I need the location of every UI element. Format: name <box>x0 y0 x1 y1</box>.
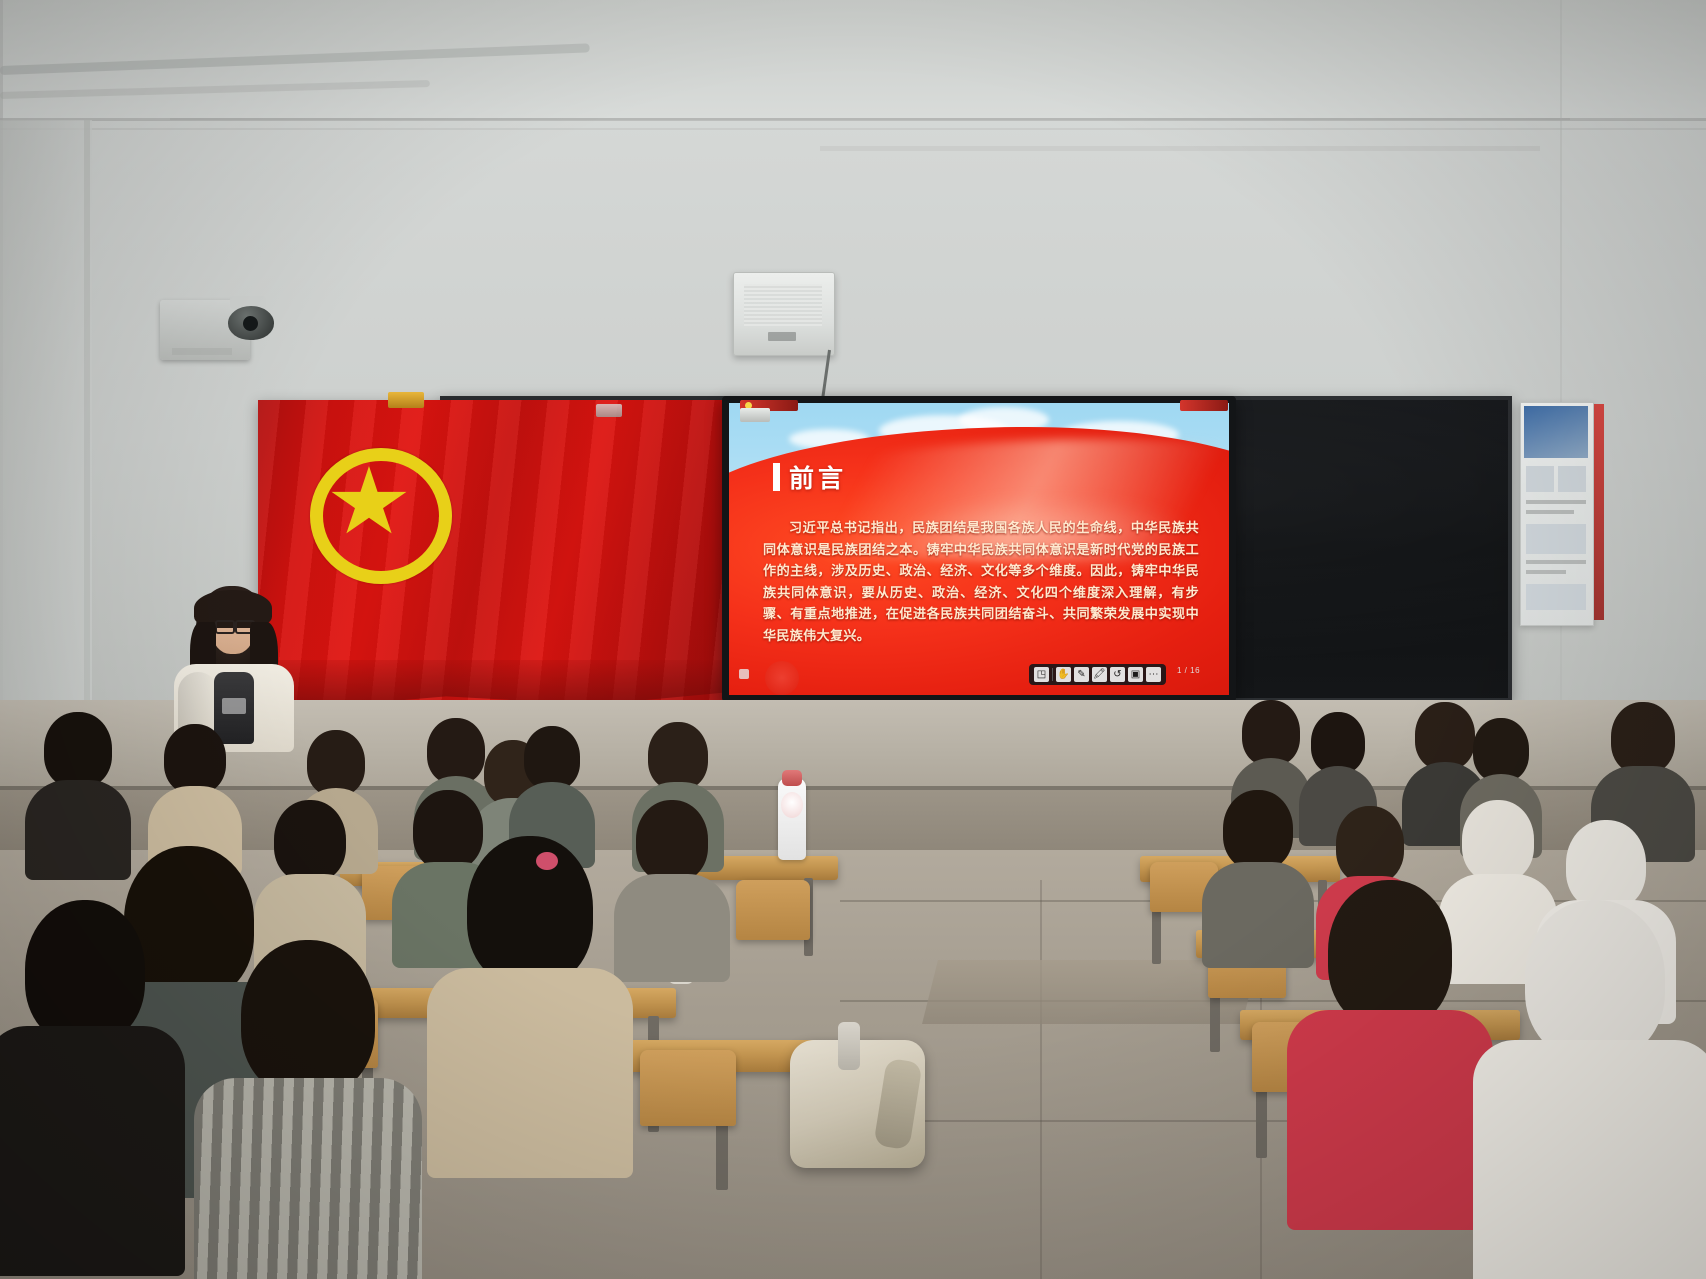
student-head <box>1311 712 1365 774</box>
wall-panel-left <box>0 120 92 760</box>
undo-tool-icon[interactable]: ↺ <box>1110 667 1125 682</box>
slide-title-accent-bar <box>773 463 780 491</box>
slide-page-indicator: 1 / 16 <box>1177 666 1200 675</box>
student <box>1208 790 1308 954</box>
hair-accessory <box>536 852 558 870</box>
speaker-grille <box>744 284 822 326</box>
poster-photo <box>1558 466 1586 492</box>
student <box>152 724 238 860</box>
chair-back <box>640 1050 736 1126</box>
slide-title-group: 前言 <box>773 459 847 495</box>
slide-body-text: 习近平总书记指出，民族团结是我国各族人民的生命线，中华民族共同体意识是民族团结之… <box>763 517 1199 646</box>
student-body <box>0 1026 185 1276</box>
ceiling-wire <box>170 118 1570 120</box>
student <box>0 900 170 1270</box>
presenter-glasses-left <box>215 620 235 634</box>
student-head <box>1242 700 1300 766</box>
student-head <box>241 940 375 1096</box>
student-head <box>467 836 593 986</box>
student <box>440 836 620 1166</box>
student-head <box>307 730 365 796</box>
student-head <box>636 800 708 882</box>
display-screen[interactable]: 前言 习近平总书记指出，民族团结是我国各族人民的生命线，中华民族共同体意识是民族… <box>729 403 1229 695</box>
student-head <box>1566 820 1646 910</box>
student-head <box>44 712 112 788</box>
toolbar-separator <box>1052 668 1053 681</box>
student-head <box>164 724 226 794</box>
poster-text-line <box>1526 560 1586 564</box>
display-ir-strip-right <box>1180 400 1228 411</box>
student-head <box>25 900 145 1044</box>
student-head <box>274 800 346 882</box>
presenter <box>168 586 300 746</box>
chair-back <box>736 880 810 940</box>
wall-conduit-vertical <box>84 120 90 720</box>
thermos-bottle <box>838 1022 860 1070</box>
presenter-shirt-graphic <box>222 698 246 714</box>
student-head <box>1462 800 1534 882</box>
camera-mount-label <box>172 348 232 355</box>
student-body <box>614 874 730 982</box>
poster-side-banner <box>1594 404 1604 620</box>
student-head <box>1328 880 1452 1028</box>
poster-photo <box>1526 466 1554 492</box>
smart-display[interactable]: 前言 习近平总书记指出，民族团结是我国各族人民的生命线，中华民族共同体意识是民族… <box>722 396 1236 702</box>
speaker-logo <box>768 332 796 341</box>
ceiling-edge-line-secondary <box>0 128 1706 130</box>
student <box>1300 880 1480 1220</box>
poster-text-line <box>1526 570 1566 574</box>
student <box>210 940 406 1279</box>
poster-photo <box>1526 524 1586 554</box>
annotation-toolbar[interactable]: ◳ ✋ ✎ 🖍 ↺ ▣ ⋯ <box>1029 664 1166 685</box>
student-head <box>1336 806 1404 884</box>
poster-photo <box>1526 584 1586 610</box>
flag-clip-right <box>596 404 622 417</box>
water-bottle-cap <box>782 770 802 786</box>
wall-conduit-horizontal <box>820 146 1540 151</box>
student-head <box>1525 900 1665 1060</box>
display-sensor-module <box>740 408 770 422</box>
student-body <box>1287 1010 1493 1230</box>
classroom-photo: 前言 习近平总书记指出，民族团结是我国各族人民的生命线，中华民族共同体意识是民族… <box>0 0 1706 1279</box>
display-status-indicator <box>739 669 749 679</box>
student-body <box>1473 1040 1706 1279</box>
screenshot-tool-icon[interactable]: ▣ <box>1128 667 1143 682</box>
student-body <box>194 1078 422 1279</box>
pen-tool-icon[interactable]: ✎ <box>1074 667 1089 682</box>
student <box>512 726 592 854</box>
more-tools-icon[interactable]: ⋯ <box>1146 667 1161 682</box>
poster-header-image <box>1524 406 1588 458</box>
wall-seam-right <box>1560 0 1562 760</box>
camera-lens-icon <box>243 316 258 331</box>
student-head <box>648 722 708 790</box>
poster-text-line <box>1526 510 1574 514</box>
student-body <box>1202 862 1314 968</box>
water-bottle <box>778 778 806 860</box>
select-tool-icon[interactable]: ◳ <box>1034 667 1049 682</box>
slide-seal-decoration <box>765 661 799 695</box>
student-head <box>1611 702 1675 774</box>
student-body <box>427 968 633 1178</box>
water-bottle-label <box>781 792 803 818</box>
student <box>1490 900 1700 1279</box>
highlighter-tool-icon[interactable]: 🖍 <box>1092 667 1107 682</box>
hand-tool-icon[interactable]: ✋ <box>1056 667 1071 682</box>
flag-clip-left <box>388 392 424 408</box>
student-head <box>1473 718 1529 782</box>
slide-title: 前言 <box>789 459 847 495</box>
student <box>30 712 126 862</box>
student <box>620 800 724 970</box>
floor-tile-line <box>1040 880 1042 1279</box>
poster-text-line <box>1526 500 1586 504</box>
student-head <box>1223 790 1293 870</box>
student-head <box>524 726 580 790</box>
